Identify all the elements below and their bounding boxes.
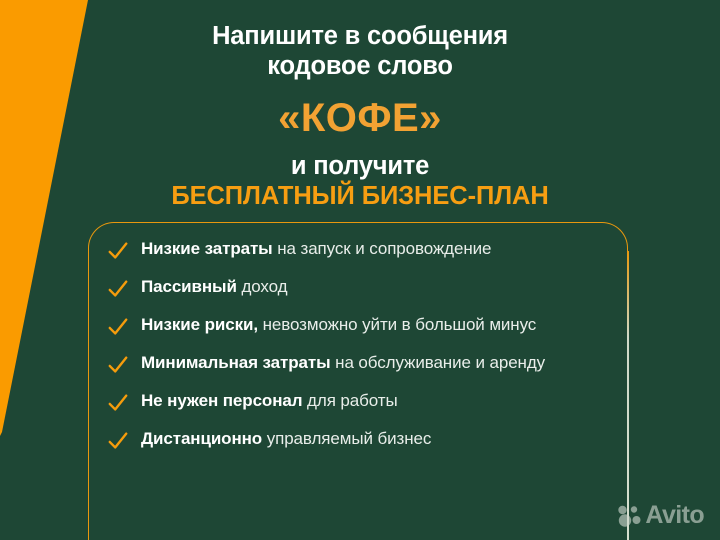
avito-watermark-text: Avito	[645, 501, 704, 530]
list-item-bold: Не нужен персонал	[141, 391, 302, 410]
list-item-bold: Минимальная затраты	[141, 353, 331, 372]
list-item-text: Низкие затраты на запуск и сопровождение	[141, 238, 491, 261]
list-item-bold: Пассивный	[141, 277, 237, 296]
list-item-rest: невозможно уйти в большой минус	[258, 315, 536, 334]
list-item-text: Низкие риски, невозможно уйти в большой …	[141, 314, 536, 337]
check-icon	[107, 430, 129, 452]
list-item-text: Не нужен персонал для работы	[141, 390, 398, 413]
list-item-rest: управляемый бизнес	[262, 429, 431, 448]
list-item-bold: Низкие риски,	[141, 315, 258, 334]
list-item-text: Минимальная затраты на обслуживание и ар…	[141, 352, 545, 375]
list-item: Не нужен персонал для работы	[107, 390, 627, 414]
list-item: Дистанционно управляемый бизнес	[107, 428, 627, 452]
list-item: Низкие затраты на запуск и сопровождение	[107, 238, 627, 262]
list-item-text: Пассивный доход	[141, 276, 287, 299]
list-item-rest: доход	[237, 277, 288, 296]
list-item: Минимальная затраты на обслуживание и ар…	[107, 352, 627, 376]
list-item-bold: Дистанционно	[141, 429, 262, 448]
list-item-rest: на запуск и сопровождение	[273, 239, 492, 258]
avito-watermark: Avito	[616, 501, 704, 530]
list-item-rest: на обслуживание и аренду	[331, 353, 546, 372]
list-item: Пассивный доход	[107, 276, 627, 300]
check-icon	[107, 354, 129, 376]
list-item-rest: для работы	[302, 391, 397, 410]
headline-line-2: кодовое слово	[120, 52, 600, 82]
list-item-bold: Низкие затраты	[141, 239, 273, 258]
avito-dots-logo-icon	[616, 504, 642, 528]
list-item-text: Дистанционно управляемый бизнес	[141, 428, 431, 451]
promo-banner: Напишите в сообщения кодовое слово «КОФЕ…	[0, 0, 720, 540]
check-icon	[107, 278, 129, 300]
code-word: «КОФЕ»	[120, 98, 600, 138]
check-icon	[107, 392, 129, 414]
check-icon	[107, 240, 129, 262]
headline-block: Напишите в сообщения кодовое слово «КОФЕ…	[120, 22, 600, 212]
benefits-list: Низкие затраты на запуск и сопровождение…	[107, 238, 627, 452]
headline-line-3: и получите	[120, 152, 600, 182]
list-item: Низкие риски, невозможно уйти в большой …	[107, 314, 627, 338]
headline-line-4: БЕСПЛАТНЫЙ БИЗНЕС-ПЛАН	[120, 182, 600, 212]
card-right-border-fade	[627, 251, 629, 540]
check-icon	[107, 316, 129, 338]
headline-line-1: Напишите в сообщения	[120, 22, 600, 52]
